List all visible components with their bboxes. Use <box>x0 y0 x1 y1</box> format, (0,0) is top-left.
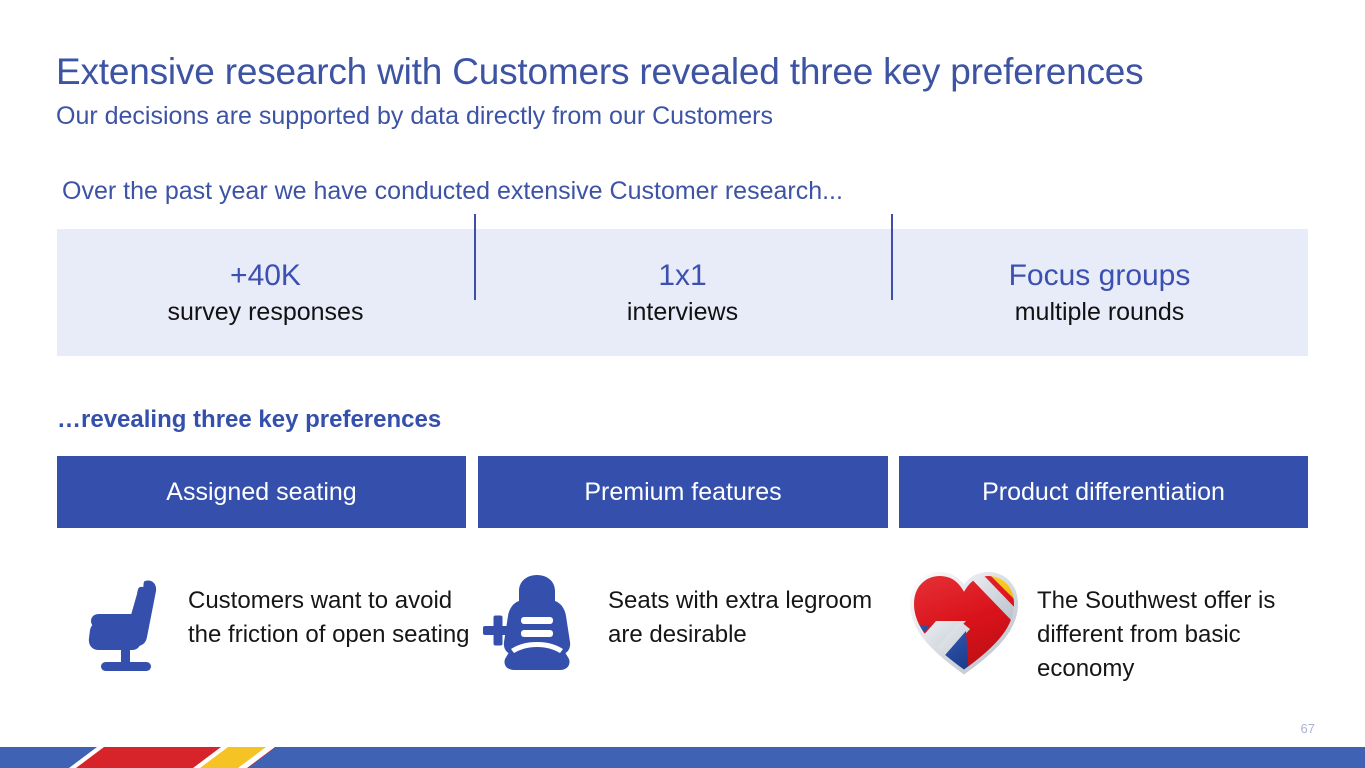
slide-canvas: Extensive research with Customers reveal… <box>0 0 1365 768</box>
southwest-heart-logo-icon <box>899 568 1029 678</box>
research-stats-band: +40K survey responses 1x1 interviews Foc… <box>57 229 1308 356</box>
stat-value: Focus groups <box>897 257 1302 295</box>
preference-banner-assigned-seating: Assigned seating <box>57 456 466 528</box>
preference-banner-premium-features: Premium features <box>478 456 888 528</box>
preference-card-assigned-seating: Customers want to avoid the friction of … <box>70 568 470 690</box>
preference-description: Customers want to avoid the friction of … <box>188 568 470 652</box>
stat-column-focus-groups: Focus groups multiple rounds <box>891 257 1308 329</box>
preference-card-product-differentiation: The Southwest offer is different from ba… <box>899 568 1319 690</box>
banner-label: Product differentiation <box>982 478 1225 507</box>
stat-label: survey responses <box>63 295 468 329</box>
stat-label: interviews <box>480 295 885 329</box>
stat-value: +40K <box>63 257 468 295</box>
stat-label: multiple rounds <box>897 295 1302 329</box>
section-heading: …revealing three key preferences <box>57 405 441 435</box>
stat-column-interviews: 1x1 interviews <box>474 257 891 329</box>
preference-description: Seats with extra legroom are desirable <box>596 568 878 652</box>
preference-description: The Southwest offer is different from ba… <box>1029 568 1319 686</box>
stat-value: 1x1 <box>480 257 885 295</box>
page-number: 67 <box>1301 721 1315 736</box>
page-subtitle: Our decisions are supported by data dire… <box>56 101 773 131</box>
footer-brand-bar <box>0 747 1365 768</box>
page-title: Extensive research with Customers reveal… <box>56 50 1143 94</box>
preference-banner-product-differentiation: Product differentiation <box>899 456 1308 528</box>
stat-column-survey-responses: +40K survey responses <box>57 257 474 329</box>
preference-card-premium-features: Seats with extra legroom are desirable <box>478 568 878 690</box>
lead-line: Over the past year we have conducted ext… <box>62 175 843 207</box>
extra-legroom-seat-plus-icon <box>478 568 596 678</box>
banner-label: Assigned seating <box>166 478 356 507</box>
airplane-seat-side-icon <box>70 568 188 678</box>
banner-label: Premium features <box>584 478 781 507</box>
